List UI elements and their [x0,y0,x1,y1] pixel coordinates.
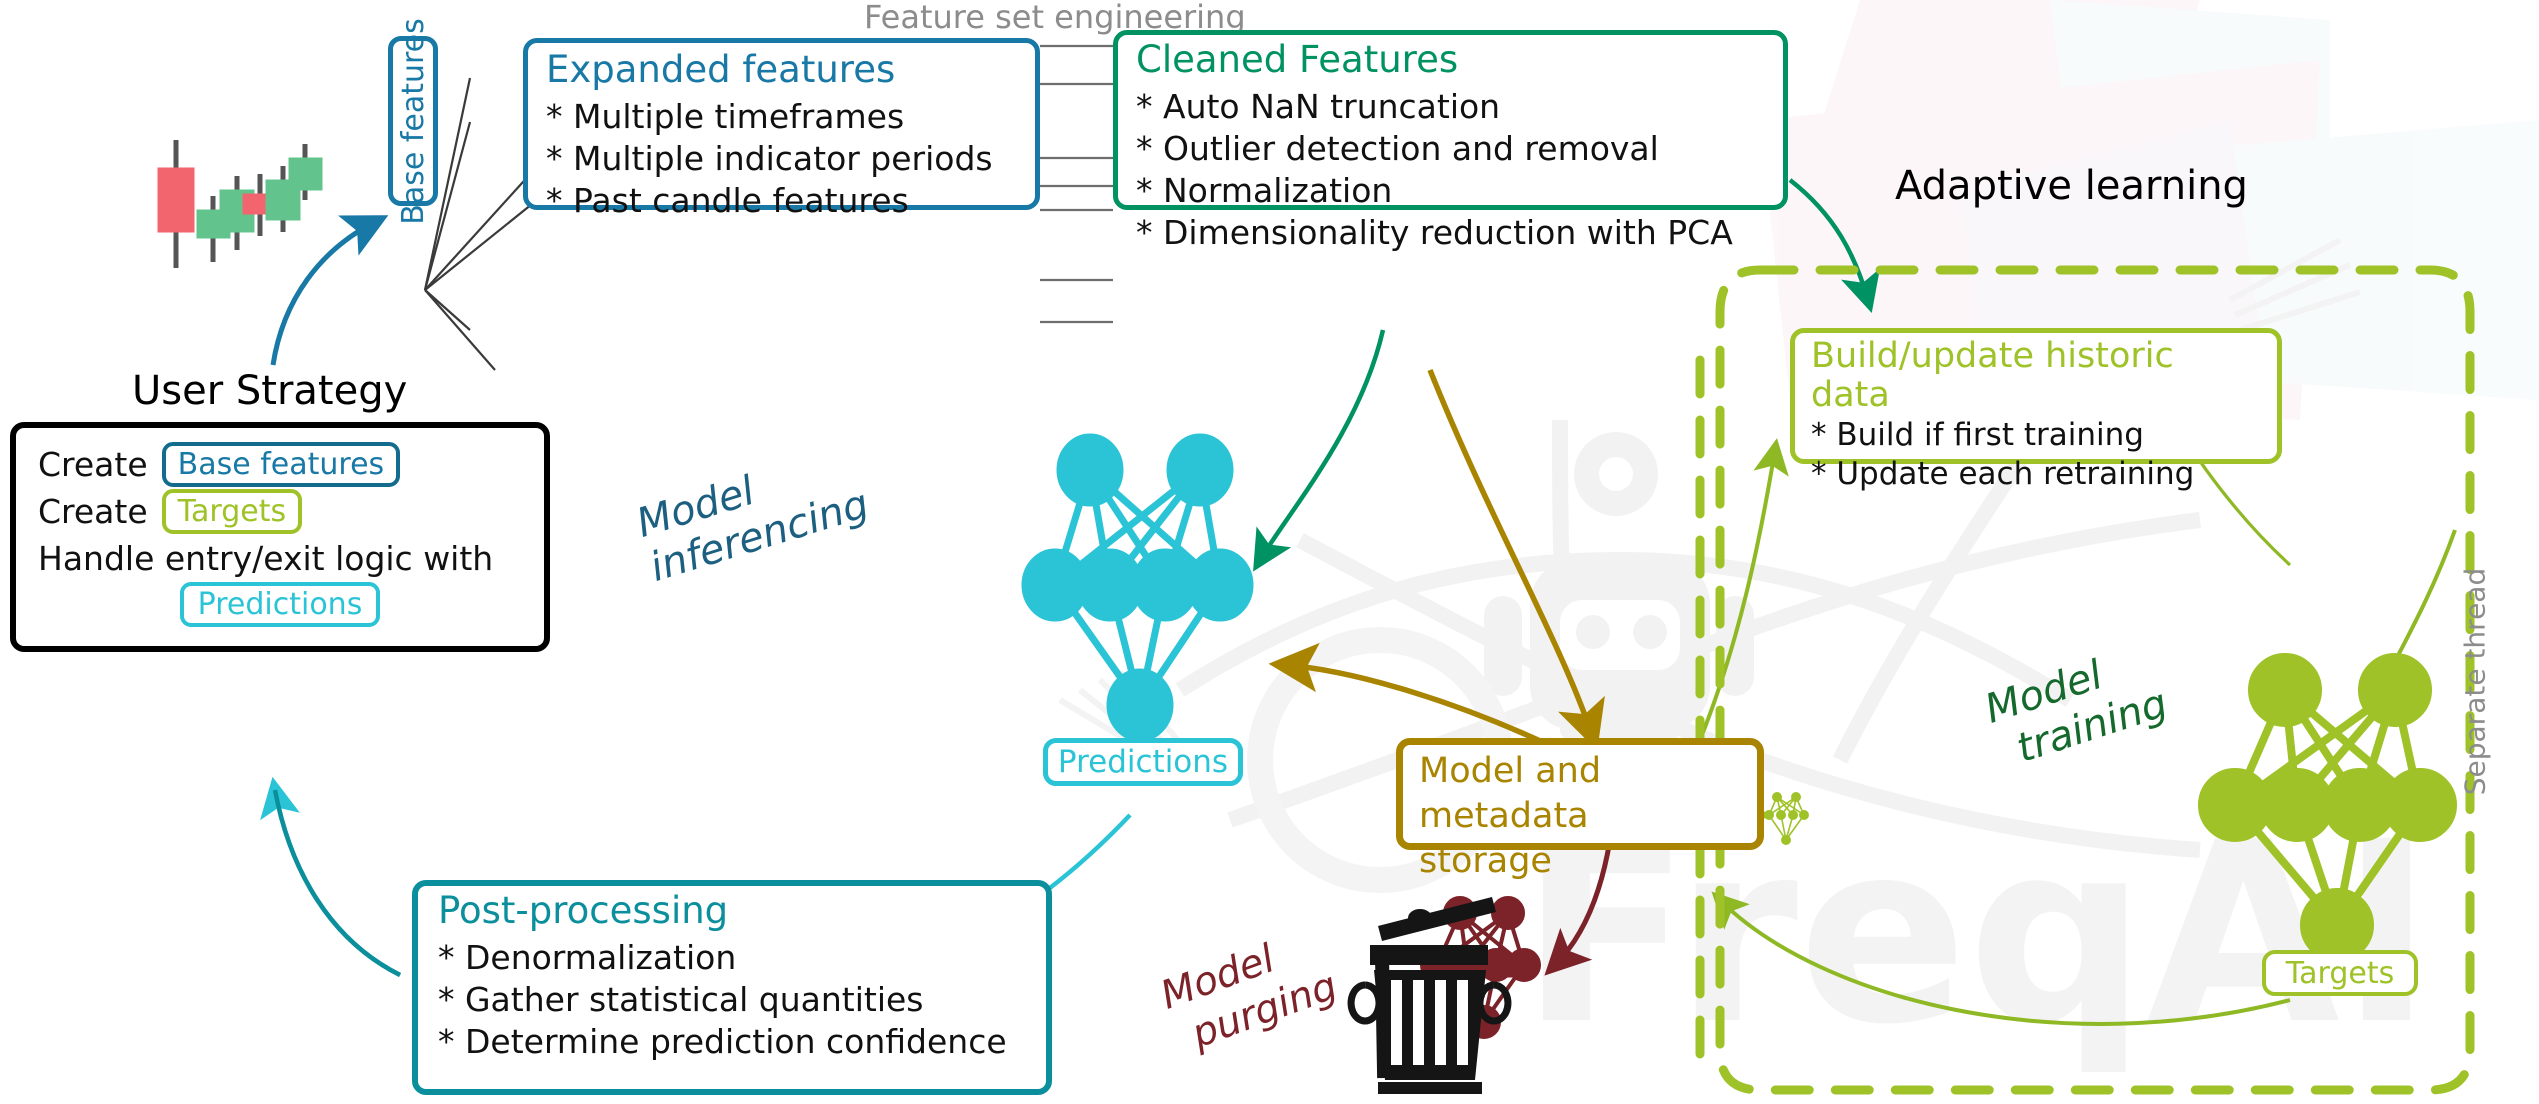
diagram-canvas: FreqAI [0,0,2539,1104]
predictions-pill-label: Predictions [1058,744,1228,780]
post-processing-item: * Denormalization [438,937,1026,979]
model-storage-line1: Model and metadata [1419,749,1741,839]
targets-pill[interactable]: Targets [2262,950,2418,996]
model-storage-line2: storage [1419,839,1741,884]
expanded-features-title: Expanded features [546,51,1017,90]
strategy-line-1: Create Base features [38,442,522,487]
cleaned-features-item: * Normalization [1136,170,1765,212]
training-network [2202,657,2453,958]
build-update-box: Build/update historic data * Build if fi… [1790,328,2282,464]
separate-thread-label: Separate thread [2459,562,2492,802]
strategy-create-label-2: Create [38,491,148,533]
expanded-features-box: Expanded features * Multiple timeframes … [523,38,1040,210]
expanded-features-item: * Multiple timeframes [546,96,1017,138]
cleaned-features-item: * Outlier detection and removal [1136,128,1765,170]
cleaned-features-box: Cleaned Features * Auto NaN truncation *… [1113,30,1788,210]
post-processing-item: * Determine prediction confidence [438,1021,1026,1063]
post-processing-item: * Gather statistical quantities [438,979,1026,1021]
adaptive-learning-label: Adaptive learning [1895,163,2248,209]
cleaned-features-item: * Auto NaN truncation [1136,86,1765,128]
strategy-line-4: Predictions [38,582,522,627]
base-features-inline-pill[interactable]: Base features [162,442,401,487]
expanded-features-item: * Past candle features [546,180,1017,222]
strategy-create-label-1: Create [38,444,148,486]
targets-pill-label: Targets [2286,956,2394,991]
trash-can-icon [1351,897,1508,1094]
separate-thread-label-wrap: Separate thread [2455,560,2495,800]
expanded-features-item: * Multiple indicator periods [546,138,1017,180]
model-storage-box: Model and metadata storage [1396,738,1764,850]
targets-inline-pill[interactable]: Targets [162,489,302,534]
strategy-line-3-text: Handle entry/exit logic with [38,538,522,580]
base-features-pill-label: Base features [396,18,431,225]
cleaned-features-title: Cleaned Features [1136,41,1765,80]
build-update-title: Build/update historic data [1811,337,2261,414]
build-update-item: * Build if first training [1811,416,2261,455]
post-processing-box: Post-processing * Denormalization * Gath… [412,880,1052,1095]
base-features-pill[interactable]: Base features [388,36,438,206]
inference-network [1025,437,1250,738]
cleaned-features-item: * Dimensionality reduction with PCA [1136,212,1765,254]
post-processing-title: Post-processing [438,892,1026,931]
predictions-pill[interactable]: Predictions [1043,738,1243,786]
strategy-line-2: Create Targets [38,489,522,534]
build-update-item: * Update each retraining [1811,455,2261,494]
user-strategy-title: User Strategy [132,368,407,414]
predictions-inline-pill[interactable]: Predictions [180,582,381,627]
user-strategy-box: Create Base features Create Targets Hand… [10,422,550,652]
